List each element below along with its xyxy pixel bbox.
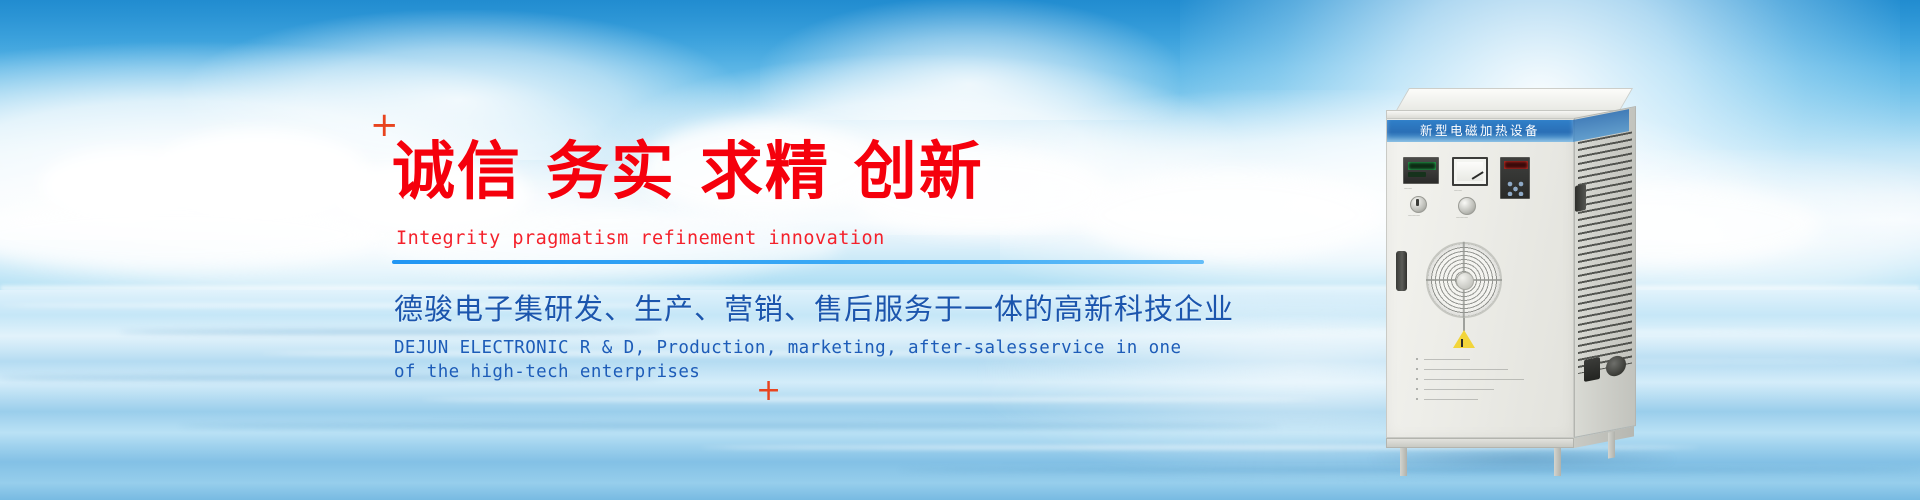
led-keypad-panel (1500, 157, 1530, 199)
meter-face (1457, 162, 1483, 181)
keypad-led-display (1504, 161, 1528, 169)
spec-bullet (1416, 398, 1418, 400)
meter-needle (1472, 171, 1484, 179)
spec-line (1424, 389, 1494, 390)
product-image-heating-equipment: 新型电磁加热设备 ——— ——— —— —— (1372, 60, 1692, 465)
fan-hub (1456, 272, 1474, 290)
cabinet-leg (1554, 448, 1561, 476)
warning-triangle-icon (1453, 330, 1475, 348)
spec-bullet (1416, 358, 1418, 360)
cable-port (1584, 357, 1600, 382)
controller-led-secondary (1408, 172, 1426, 177)
promo-banner: + 诚信 务实 求精 创新 Integrity pragmatism refin… (0, 0, 1920, 500)
company-description-cn: 德骏电子集研发、生产、营销、售后服务于一体的高新科技企业 (394, 286, 1234, 328)
divider (392, 260, 1204, 264)
spec-line (1424, 399, 1478, 400)
instrument-label: —— (1404, 186, 1412, 191)
cabinet-plinth (1386, 438, 1574, 448)
door-handle (1396, 251, 1407, 291)
side-vent-louvers (1578, 132, 1632, 374)
company-description-en-line2: of the high-tech enterprises (394, 362, 700, 382)
warning-bolt-icon (1461, 339, 1463, 347)
page-subtitle-en: Integrity pragmatism refinement innovati… (396, 228, 885, 249)
digital-temperature-controller (1403, 157, 1439, 184)
spec-bullet (1416, 388, 1418, 390)
controller-led-display (1408, 162, 1436, 170)
plus-decoration-icon: + (756, 376, 781, 406)
spec-bullet (1416, 368, 1418, 370)
knob-label: ——— (1456, 215, 1468, 220)
selector-knob (1410, 196, 1427, 213)
side-latch (1575, 184, 1586, 212)
spec-line (1424, 379, 1524, 380)
copy-block: + 诚信 务实 求精 创新 Integrity pragmatism refin… (0, 0, 1250, 500)
knob-pointer (1416, 199, 1419, 206)
spec-label-block (1414, 356, 1534, 400)
spec-line (1424, 369, 1508, 370)
cabinet-leg (1608, 431, 1615, 458)
instrument-label: —— (1454, 188, 1462, 193)
spec-line (1424, 359, 1470, 360)
adjust-knob (1458, 197, 1476, 215)
company-description-en-line1: DEJUN ELECTRONIC R & D, Production, mark… (394, 334, 1181, 362)
analog-ammeter (1452, 157, 1488, 186)
keypad-buttons (1505, 180, 1527, 196)
product-label: 新型电磁加热设备 (1387, 120, 1573, 142)
knob-label: ——— (1408, 213, 1420, 218)
cabinet-leg (1400, 448, 1407, 476)
page-title: 诚信 务实 求精 创新 (392, 140, 984, 203)
spec-bullet (1416, 378, 1418, 380)
